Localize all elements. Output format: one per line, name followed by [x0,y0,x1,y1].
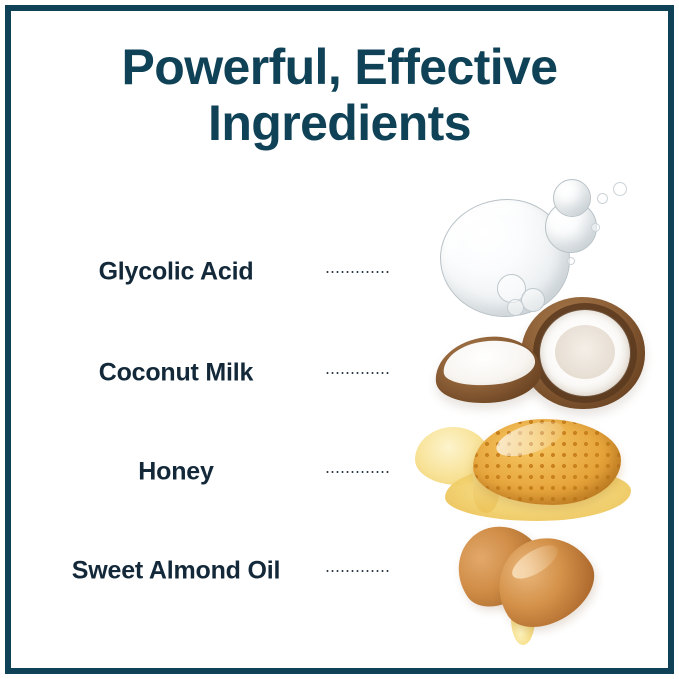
dotted-leader-honey [325,471,391,474]
gel-bubble-small-3 [591,223,600,232]
coconut-half-large-cavity [555,325,615,379]
ingredient-label-coconut-milk: Coconut Milk [31,359,321,388]
ingredients-infographic: Powerful, Effective Ingredients Glycolic… [0,0,679,679]
page-title: Powerful, Effective Ingredients [11,39,668,151]
gel-bubble-small-1 [597,193,608,204]
ingredient-label-glycolic-acid: Glycolic Acid [31,258,321,287]
gel-bubble-medium [553,179,591,217]
dotted-leader-coconut-milk [325,372,391,375]
dotted-leader-sweet-almond-oil [325,570,391,573]
gel-bubble-small-4 [567,257,575,265]
ingredient-label-honey: Honey [31,458,321,487]
gel-bubble-small-2 [613,182,627,196]
page-title-line-1: Powerful, Effective [11,39,668,95]
cracked-coconut-halves-image [429,293,659,413]
honeycomb-with-honey-pool-image [411,413,661,533]
clear-gel-droplet-with-bubbles-image [421,171,661,311]
two-almonds-with-oil-drop-image [447,523,647,651]
ingredient-label-sweet-almond-oil: Sweet Almond Oil [31,557,321,586]
page-title-line-2: Ingredients [11,95,668,151]
dotted-leader-glycolic-acid [325,271,391,274]
poster-content: Powerful, Effective Ingredients Glycolic… [11,11,668,668]
